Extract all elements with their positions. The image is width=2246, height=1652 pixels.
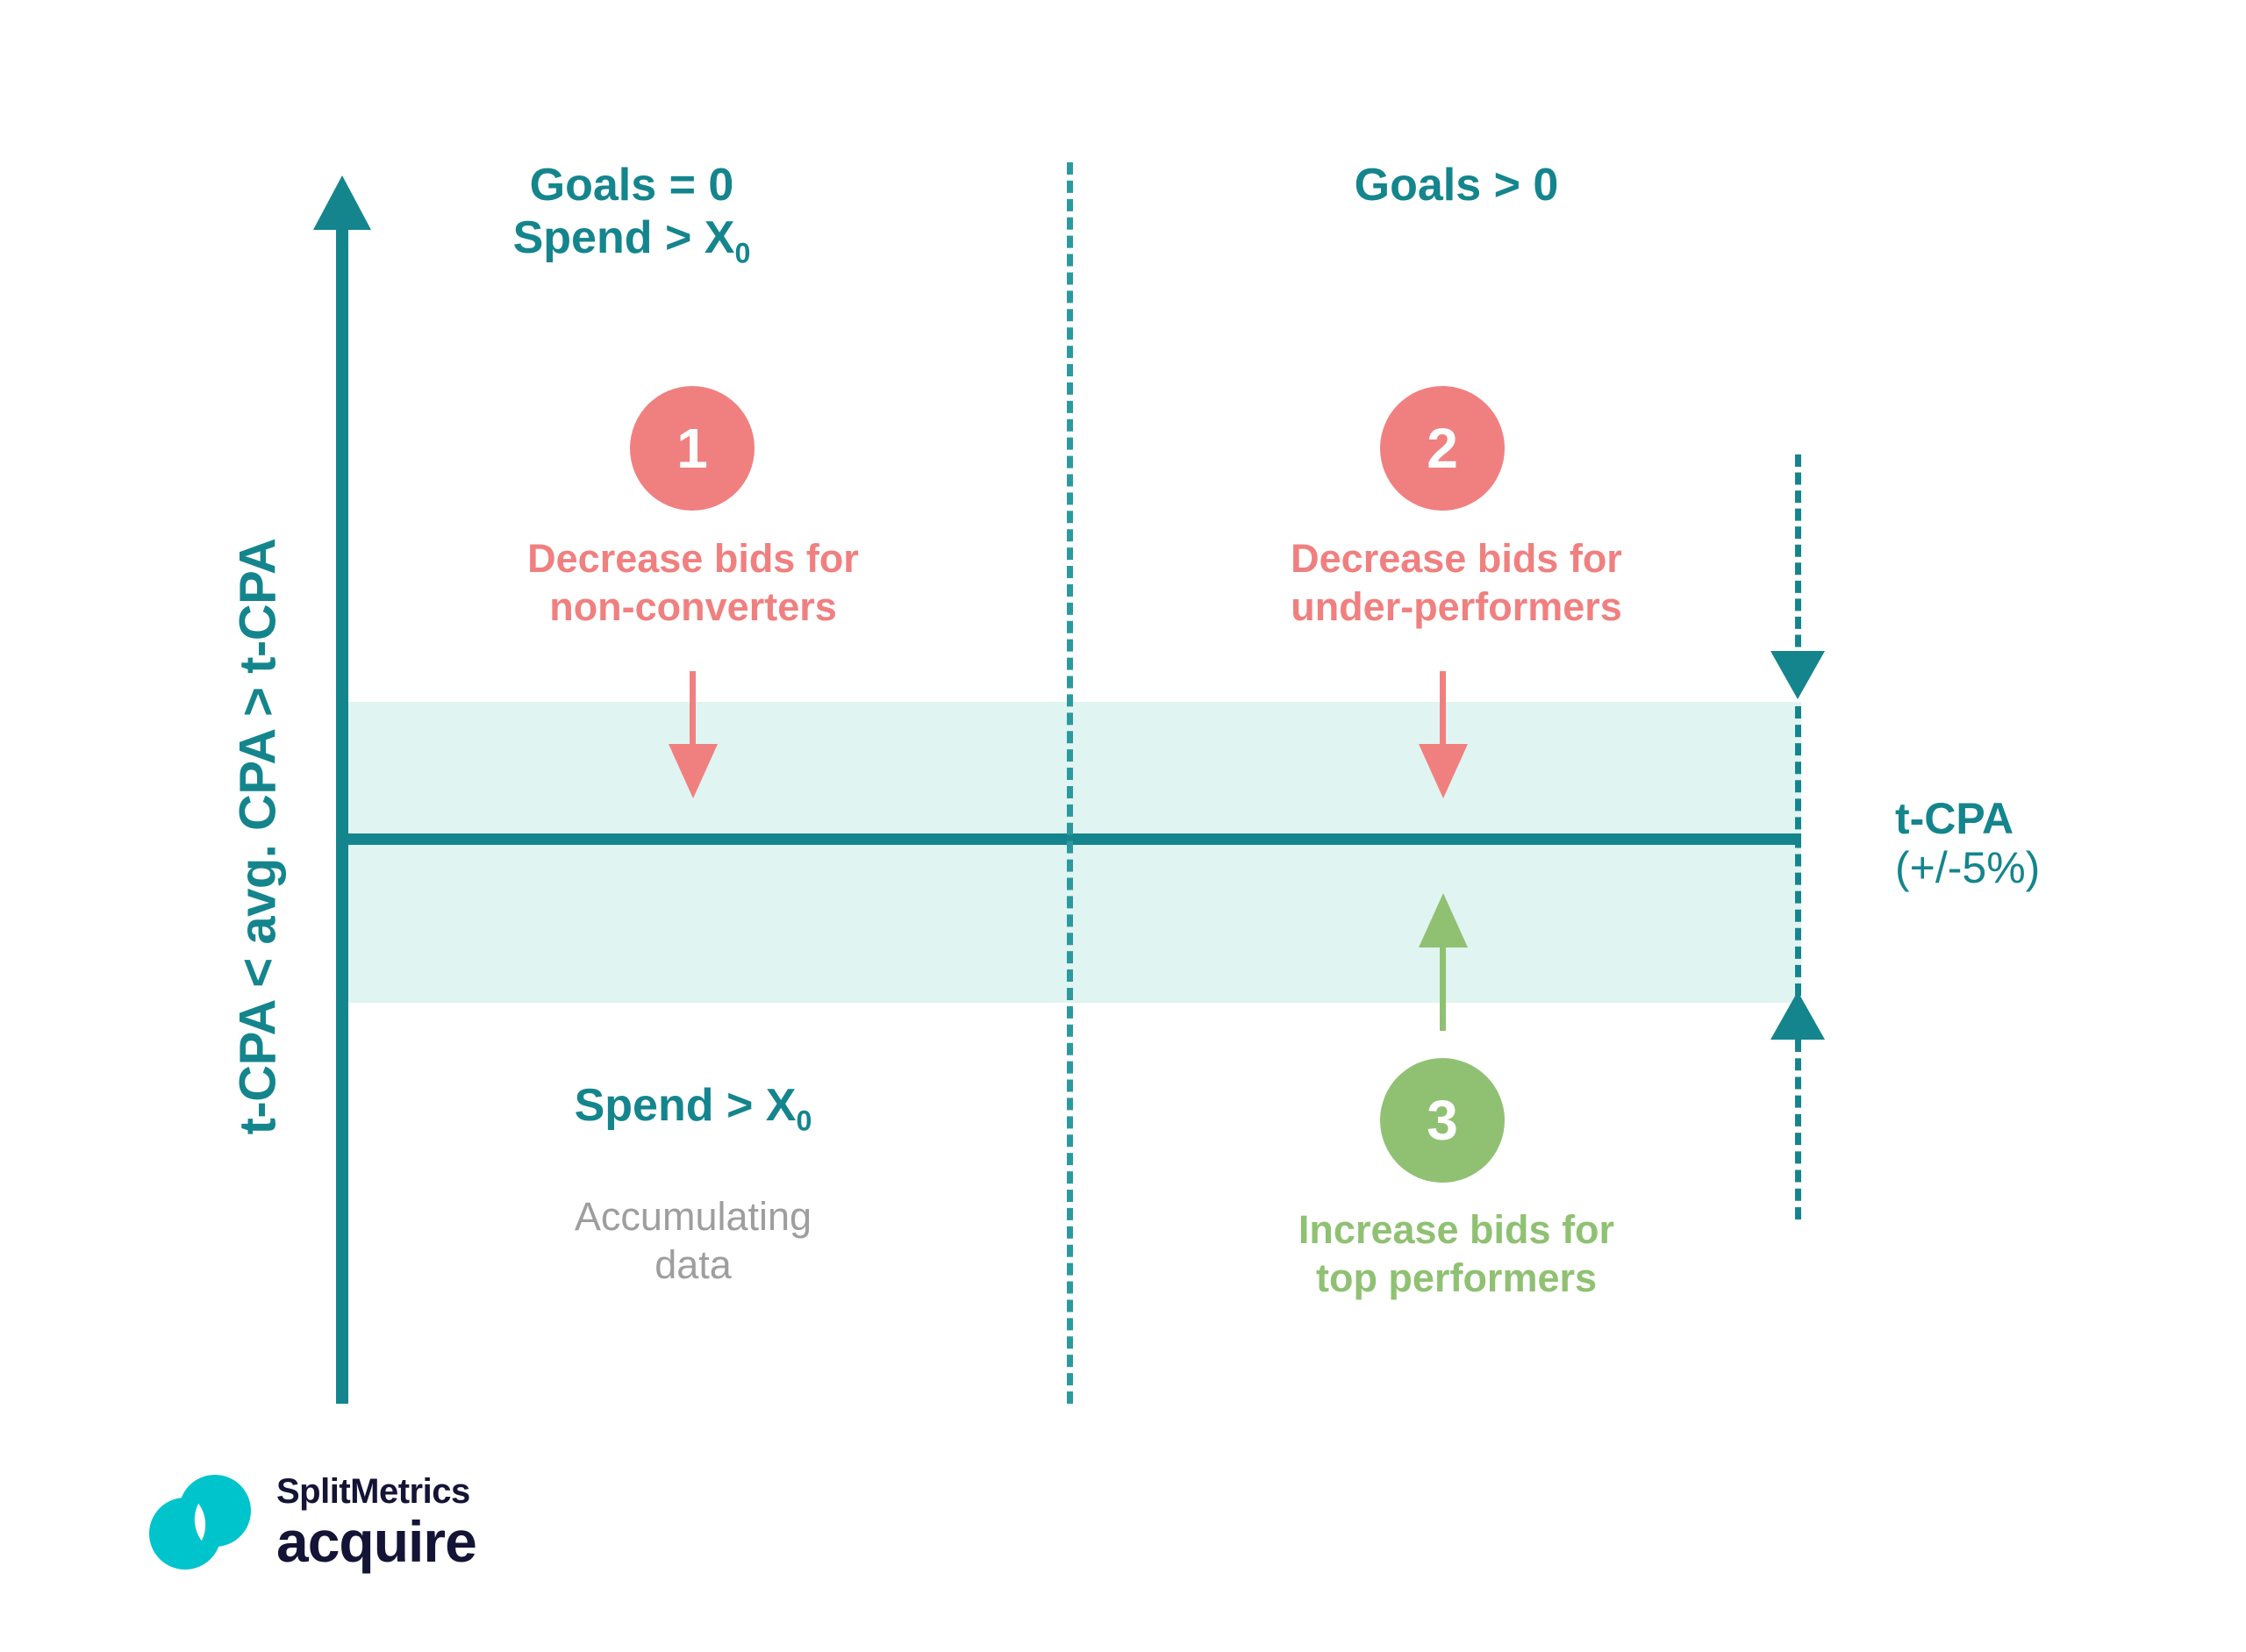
lower-left-spend-subscript: 0 [796, 1105, 812, 1136]
badge-step-1: 1 [630, 386, 755, 511]
action-label-decrease-under-performers: Decrease bids for under-performers [1202, 535, 1711, 632]
spend-threshold-subscript: 0 [734, 237, 750, 268]
splitmetrics-acquire-logo: SplitMetrics acquire [145, 1474, 476, 1570]
arrow-up-icon-band-bottom [1770, 991, 1825, 1040]
column-header-left: Goals = 0 Spend > X0 [412, 160, 851, 269]
column-header-left-line2: Spend > X0 [412, 212, 851, 269]
lower-left-accumulating-note: Accumulating data [456, 1193, 930, 1290]
badge-step-2: 2 [1380, 386, 1505, 511]
badge-step-2-number: 2 [1427, 416, 1458, 481]
arrow-up-shaft-3 [1440, 948, 1446, 1031]
arrow-down-icon-1 [669, 744, 718, 798]
action-label-2-line1: Decrease bids for [1202, 535, 1711, 583]
y-axis-line [336, 219, 348, 1404]
arrow-down-icon-2 [1419, 744, 1468, 798]
column-header-right: Goals > 0 [1228, 160, 1684, 212]
badge-step-3: 3 [1380, 1058, 1505, 1183]
column-divider-dashed-line [1067, 162, 1073, 1404]
spend-threshold-text: Spend > X [513, 212, 735, 263]
y-axis-label: t-CPA < avg. CPA > t-CPA [229, 398, 288, 1276]
y-axis-arrow-icon [313, 175, 371, 230]
diagram-canvas: t-CPA < avg. CPA > t-CPA Goals = 0 Spend… [0, 0, 2246, 1652]
action-label-decrease-non-converters: Decrease bids for non-converters [456, 535, 930, 632]
action-label-2-line2: under-performers [1202, 583, 1711, 632]
splitmetrics-venn-logo-icon [145, 1474, 257, 1570]
column-header-left-line1: Goals = 0 [412, 160, 851, 212]
lower-left-spend-text: Spend > X [575, 1080, 797, 1131]
tolerance-span-dashed-mid [1795, 706, 1801, 996]
arrow-down-shaft-1 [690, 671, 696, 754]
tcpa-annotation-tolerance: (+/-5%) [1895, 843, 2040, 892]
badge-step-3-number: 3 [1427, 1088, 1458, 1153]
badge-step-1-number: 1 [676, 416, 708, 481]
action-label-3-line2: top performers [1211, 1255, 1702, 1303]
arrow-down-shaft-2 [1440, 671, 1446, 754]
tcpa-annotation: t-CPA (+/-5%) [1895, 794, 2040, 892]
action-label-increase-top-performers: Increase bids for top performers [1211, 1206, 1702, 1303]
tcpa-annotation-title: t-CPA [1895, 794, 2040, 843]
action-label-1-line2: non-converters [456, 583, 930, 632]
column-header-right-line1: Goals > 0 [1228, 160, 1684, 212]
lower-left-spend-condition: Spend > X0 [456, 1079, 930, 1137]
tolerance-span-dashed-lower [1795, 1040, 1801, 1219]
action-label-3-line1: Increase bids for [1211, 1206, 1702, 1255]
action-label-1-line1: Decrease bids for [456, 535, 930, 583]
accumulating-line1: Accumulating [456, 1193, 930, 1241]
logo-name-bottom: acquire [276, 1513, 476, 1570]
arrow-up-icon-3 [1419, 893, 1468, 948]
arrow-down-icon-band-top [1770, 651, 1825, 699]
logo-name-top: SplitMetrics [276, 1474, 476, 1509]
logo-wordmark: SplitMetrics acquire [276, 1474, 476, 1570]
accumulating-line2: data [456, 1241, 930, 1290]
tolerance-span-dashed-upper [1795, 454, 1801, 665]
